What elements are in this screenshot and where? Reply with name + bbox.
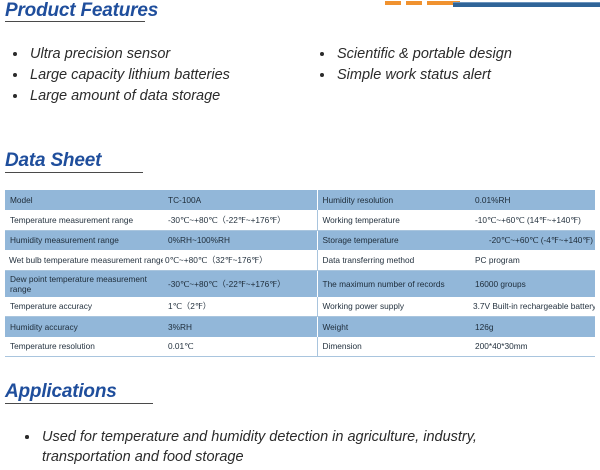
spec-key: Working power supply bbox=[317, 297, 470, 317]
list-item-label: Used for temperature and humidity detect… bbox=[42, 429, 477, 465]
product-spec-page: Product Features Ultra precision sensor … bbox=[0, 0, 600, 470]
table-row: Humidity accuracy 3%RH Weight 126g bbox=[5, 317, 595, 337]
bullet-icon bbox=[13, 94, 17, 98]
spec-key: Temperature resolution bbox=[5, 337, 163, 357]
spec-value: 0.01℃ bbox=[163, 337, 317, 357]
spec-key: Temperature accuracy bbox=[5, 297, 163, 317]
spec-value: -30℃~+80℃（-22℉~+176℉） bbox=[163, 210, 317, 230]
table-row: Humidity measurement range 0%RH~100%RH S… bbox=[5, 230, 595, 250]
list-item-label: Ultra precision sensor bbox=[30, 46, 170, 62]
list-item-label: Large amount of data storage bbox=[30, 88, 220, 104]
spec-value: 0.01%RH bbox=[470, 190, 595, 210]
orange-dash-2 bbox=[406, 1, 422, 5]
spec-value: 3.7V Built-in rechargeable battery bbox=[470, 297, 595, 317]
table-row: Temperature accuracy 1℃（2℉） Working powe… bbox=[5, 297, 595, 317]
table-row: Wet bulb temperature measurement range 0… bbox=[5, 250, 595, 270]
data-sheet-heading: Data Sheet bbox=[5, 150, 101, 172]
bullet-icon bbox=[13, 52, 17, 56]
spec-key: Temperature measurement range bbox=[5, 210, 163, 230]
spec-value: TC-100A bbox=[163, 190, 317, 210]
list-item: Simple work status alert bbox=[319, 65, 512, 86]
spec-key: Weight bbox=[317, 317, 470, 337]
spec-value: -10℃~+60℃ (14℉~+140℉) bbox=[470, 210, 595, 230]
spec-key: Dimension bbox=[317, 337, 470, 357]
orange-dash-1 bbox=[385, 1, 401, 5]
spec-value: 16000 groups bbox=[470, 270, 595, 297]
bullet-icon bbox=[13, 73, 17, 77]
spec-value: 200*40*30mm bbox=[470, 337, 595, 357]
spec-value: -20℃~+60℃ (-4℉~+140℉) bbox=[470, 230, 595, 250]
spec-key: Wet bulb temperature measurement range bbox=[5, 250, 163, 270]
spec-key: Model bbox=[5, 190, 163, 210]
spec-value: 0℃~+80℃（32℉~176℉） bbox=[163, 250, 317, 270]
specifications-table: Model TC-100A Humidity resolution 0.01%R… bbox=[5, 190, 595, 357]
product-features-rule bbox=[5, 21, 145, 22]
applications-rule bbox=[5, 403, 153, 404]
spec-value: 0%RH~100%RH bbox=[163, 230, 317, 250]
spec-value: -30℃~+80℃（-22℉~+176℉） bbox=[163, 270, 317, 297]
list-item: Used for temperature and humidity detect… bbox=[24, 427, 564, 467]
applications-heading: Applications bbox=[5, 381, 117, 403]
spec-key: Dew point temperature measurement range bbox=[5, 270, 163, 297]
blue-header-bar bbox=[453, 2, 600, 7]
applications-list: Used for temperature and humidity detect… bbox=[24, 427, 564, 467]
table-row: Temperature measurement range -30℃~+80℃（… bbox=[5, 210, 595, 230]
spec-key: Storage temperature bbox=[317, 230, 470, 250]
product-features-heading: Product Features bbox=[5, 0, 158, 22]
list-item-label: Large capacity lithium batteries bbox=[30, 67, 230, 83]
list-item-label: Simple work status alert bbox=[337, 67, 491, 83]
spec-value: 3%RH bbox=[163, 317, 317, 337]
spec-key: Humidity accuracy bbox=[5, 317, 163, 337]
table-row: Temperature resolution 0.01℃ Dimension 2… bbox=[5, 337, 595, 357]
list-item: Large capacity lithium batteries bbox=[12, 65, 230, 86]
spec-value: 126g bbox=[470, 317, 595, 337]
spec-value: PC program bbox=[470, 250, 595, 270]
list-item-label: Scientific & portable design bbox=[337, 46, 512, 62]
list-item: Large amount of data storage bbox=[12, 86, 230, 107]
spec-key: Humidity resolution bbox=[317, 190, 470, 210]
product-features-list-right: Scientific & portable design Simple work… bbox=[319, 44, 512, 86]
table-row: Dew point temperature measurement range … bbox=[5, 270, 595, 297]
spec-key: Humidity measurement range bbox=[5, 230, 163, 250]
data-sheet-rule bbox=[5, 172, 143, 173]
bullet-icon bbox=[25, 435, 29, 439]
list-item: Ultra precision sensor bbox=[12, 44, 230, 65]
spec-key: The maximum number of records bbox=[317, 270, 470, 297]
list-item: Scientific & portable design bbox=[319, 44, 512, 65]
spec-key: Working temperature bbox=[317, 210, 470, 230]
table-row: Model TC-100A Humidity resolution 0.01%R… bbox=[5, 190, 595, 210]
spec-key: Data transferring method bbox=[317, 250, 470, 270]
bullet-icon bbox=[320, 52, 324, 56]
bullet-icon bbox=[320, 73, 324, 77]
product-features-list-left: Ultra precision sensor Large capacity li… bbox=[12, 44, 230, 107]
spec-value: 1℃（2℉） bbox=[163, 297, 317, 317]
